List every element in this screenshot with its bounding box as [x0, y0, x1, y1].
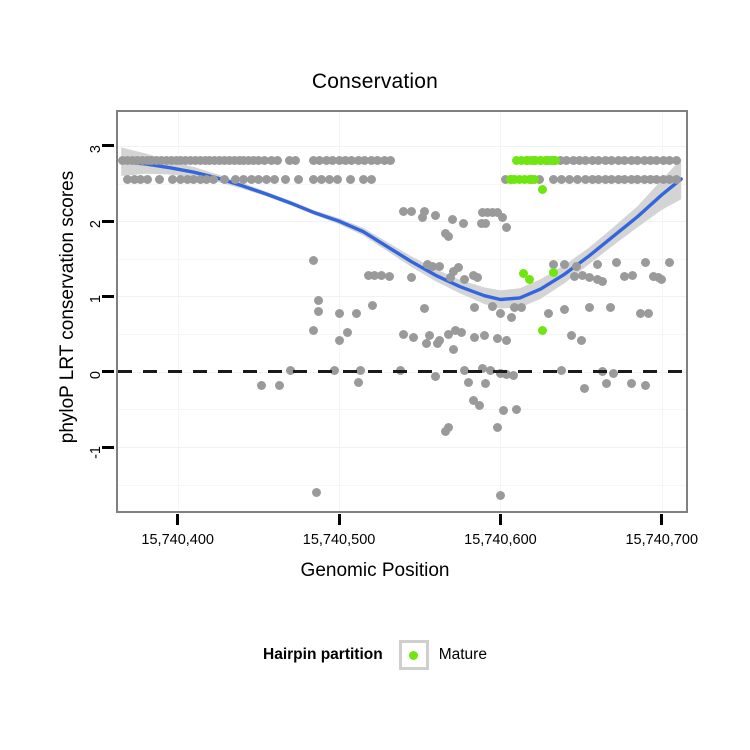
data-point-other [585, 303, 594, 312]
data-point-other [309, 326, 318, 335]
x-tick-label: 15,740,600 [435, 532, 565, 548]
data-point-other [459, 219, 468, 228]
legend-key-mature[interactable] [399, 640, 429, 670]
x-tick-label: 15,740,700 [597, 532, 727, 548]
mature-dot-icon [409, 651, 418, 660]
y-axis-title: phyloP LRT conservation scores [57, 97, 79, 517]
data-point-other [496, 309, 505, 318]
x-tick-label: 15,740,500 [274, 532, 404, 548]
data-point-other [641, 381, 650, 390]
data-point-other [502, 336, 511, 345]
data-point-other [335, 309, 344, 318]
data-point-other [488, 302, 497, 311]
data-point-other [314, 296, 323, 305]
legend-label-mature: Mature [439, 646, 487, 664]
page-title: Conservation [0, 70, 750, 94]
data-point-other [352, 309, 361, 318]
data-point-other [420, 207, 429, 216]
loess-confidence-band [121, 147, 681, 308]
data-point-other [480, 331, 489, 340]
data-point-other [446, 273, 455, 282]
data-point-other [431, 211, 440, 220]
y-tick-label: 2 [88, 220, 104, 254]
data-point-other [464, 378, 473, 387]
y-tick-label: 0 [88, 371, 104, 405]
data-point-other [577, 336, 586, 345]
data-point-other [496, 491, 505, 500]
data-point-mature [530, 175, 539, 184]
data-point-other [399, 330, 408, 339]
data-point-other [433, 339, 442, 348]
data-point-other [498, 213, 507, 222]
data-point-other [143, 175, 152, 184]
data-point-other [449, 345, 458, 354]
data-point-other [567, 331, 576, 340]
y-tick-label: 3 [88, 145, 104, 179]
data-point-other [544, 309, 553, 318]
conservation-figure: Conservation phyloP LRT conservation sco… [0, 0, 750, 750]
data-point-other [275, 381, 284, 390]
data-point-other [627, 379, 636, 388]
plot-area [118, 112, 686, 511]
data-point-other [343, 328, 352, 337]
data-point-mature [549, 268, 558, 277]
plot-panel [116, 110, 688, 513]
data-point-other [644, 309, 653, 318]
data-point-other [672, 175, 681, 184]
data-point-other [444, 232, 453, 241]
data-point-other [407, 207, 416, 216]
data-point-other [512, 405, 521, 414]
data-point-other [257, 381, 266, 390]
legend: Hairpin partition Mature [0, 640, 750, 670]
data-point-other [209, 175, 218, 184]
data-point-other [312, 488, 321, 497]
data-point-other [572, 262, 581, 271]
data-point-other [335, 336, 344, 345]
data-point-other [580, 384, 589, 393]
data-point-other [422, 339, 431, 348]
data-point-other [354, 378, 363, 387]
x-tick [176, 514, 179, 525]
x-tick [660, 514, 663, 525]
y-tick-label: 1 [88, 295, 104, 329]
x-tick [338, 514, 341, 525]
y-tick-label: -1 [88, 446, 104, 480]
x-tick-label: 15,740,400 [113, 532, 243, 548]
data-point-other [314, 307, 323, 316]
data-point-other [598, 277, 607, 286]
data-point-other [475, 401, 484, 410]
loess-trend-layer [118, 112, 686, 511]
data-point-other [385, 272, 394, 281]
data-point-mature [538, 185, 547, 194]
data-point-other [493, 334, 502, 343]
data-point-other [493, 423, 502, 432]
data-point-other [309, 256, 318, 265]
legend-title: Hairpin partition [263, 646, 383, 664]
x-tick [499, 514, 502, 525]
data-point-other [435, 262, 444, 271]
x-axis-title: Genomic Position [0, 560, 750, 582]
data-point-other [420, 304, 429, 313]
data-point-other [606, 303, 615, 312]
data-point-other [448, 215, 457, 224]
zero-reference-line [118, 370, 686, 373]
data-point-mature [538, 326, 547, 335]
